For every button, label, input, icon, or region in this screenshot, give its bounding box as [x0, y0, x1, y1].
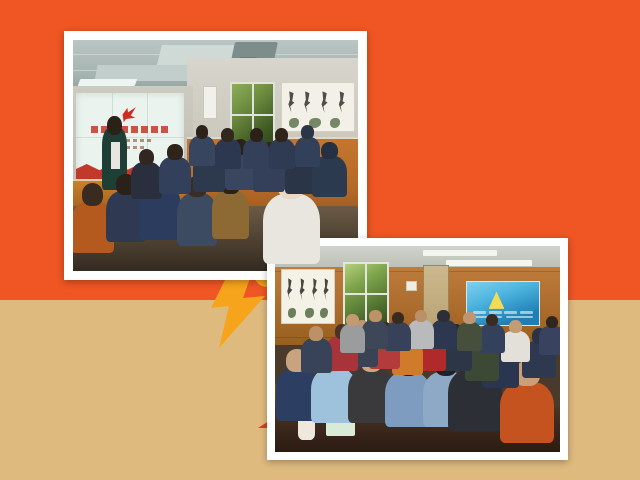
audience-member-head	[301, 125, 314, 139]
audience-member-head	[82, 183, 103, 206]
audience-member-head	[369, 310, 382, 322]
audience-member-head	[309, 326, 323, 340]
poster-pyramid-icon	[489, 292, 505, 309]
audience-member-head	[509, 320, 522, 333]
audience-member-head	[196, 125, 209, 138]
audience-member-head	[275, 128, 288, 142]
audience-member-head	[415, 310, 428, 322]
audience-member	[269, 139, 295, 169]
audience-member	[362, 320, 388, 349]
calligraphy-panel	[281, 269, 335, 325]
audience-member	[501, 331, 530, 362]
audience-member	[479, 324, 505, 353]
party-emblem-icon	[121, 105, 136, 123]
ceiling-light	[77, 79, 137, 86]
audience-member-head	[346, 314, 359, 326]
audience-member	[215, 139, 241, 169]
presenter-shirt	[111, 142, 121, 170]
slide-title-text	[91, 126, 169, 133]
audience-member	[340, 324, 366, 353]
photo-audience-seated[interactable]	[267, 238, 568, 460]
photo1-image	[73, 40, 358, 271]
audience-member-head	[139, 149, 155, 165]
audience-member-head	[221, 128, 234, 142]
audience-member	[159, 157, 190, 194]
audience-member	[243, 139, 269, 169]
collage-canvas	[0, 0, 640, 480]
photo2-image	[275, 246, 560, 452]
presenter-head	[107, 116, 122, 134]
audience-member	[263, 194, 320, 263]
audience-member	[212, 190, 249, 239]
audience-member-head	[392, 312, 405, 324]
audience-member	[189, 136, 215, 166]
audience-member-head	[437, 310, 450, 322]
audience-member	[457, 322, 483, 351]
audience-member	[408, 320, 434, 349]
audience-member	[500, 382, 554, 444]
audience-member	[131, 162, 162, 199]
audience-member-head	[250, 128, 263, 142]
calligraphy-panel	[281, 82, 355, 133]
audience-member-head	[321, 142, 338, 159]
notice-board	[203, 86, 217, 118]
wall-sign	[406, 281, 417, 291]
audience-member	[385, 322, 411, 351]
audience-member	[539, 326, 560, 355]
info-poster	[466, 281, 540, 326]
audience-member	[177, 193, 217, 246]
audience-member-head	[167, 144, 183, 160]
audience-member	[431, 320, 457, 349]
audience-member-head	[546, 316, 559, 328]
audience-member	[295, 137, 321, 167]
audience-member	[301, 338, 332, 373]
audience-member-head	[486, 314, 499, 326]
audience-member-head	[463, 312, 476, 324]
